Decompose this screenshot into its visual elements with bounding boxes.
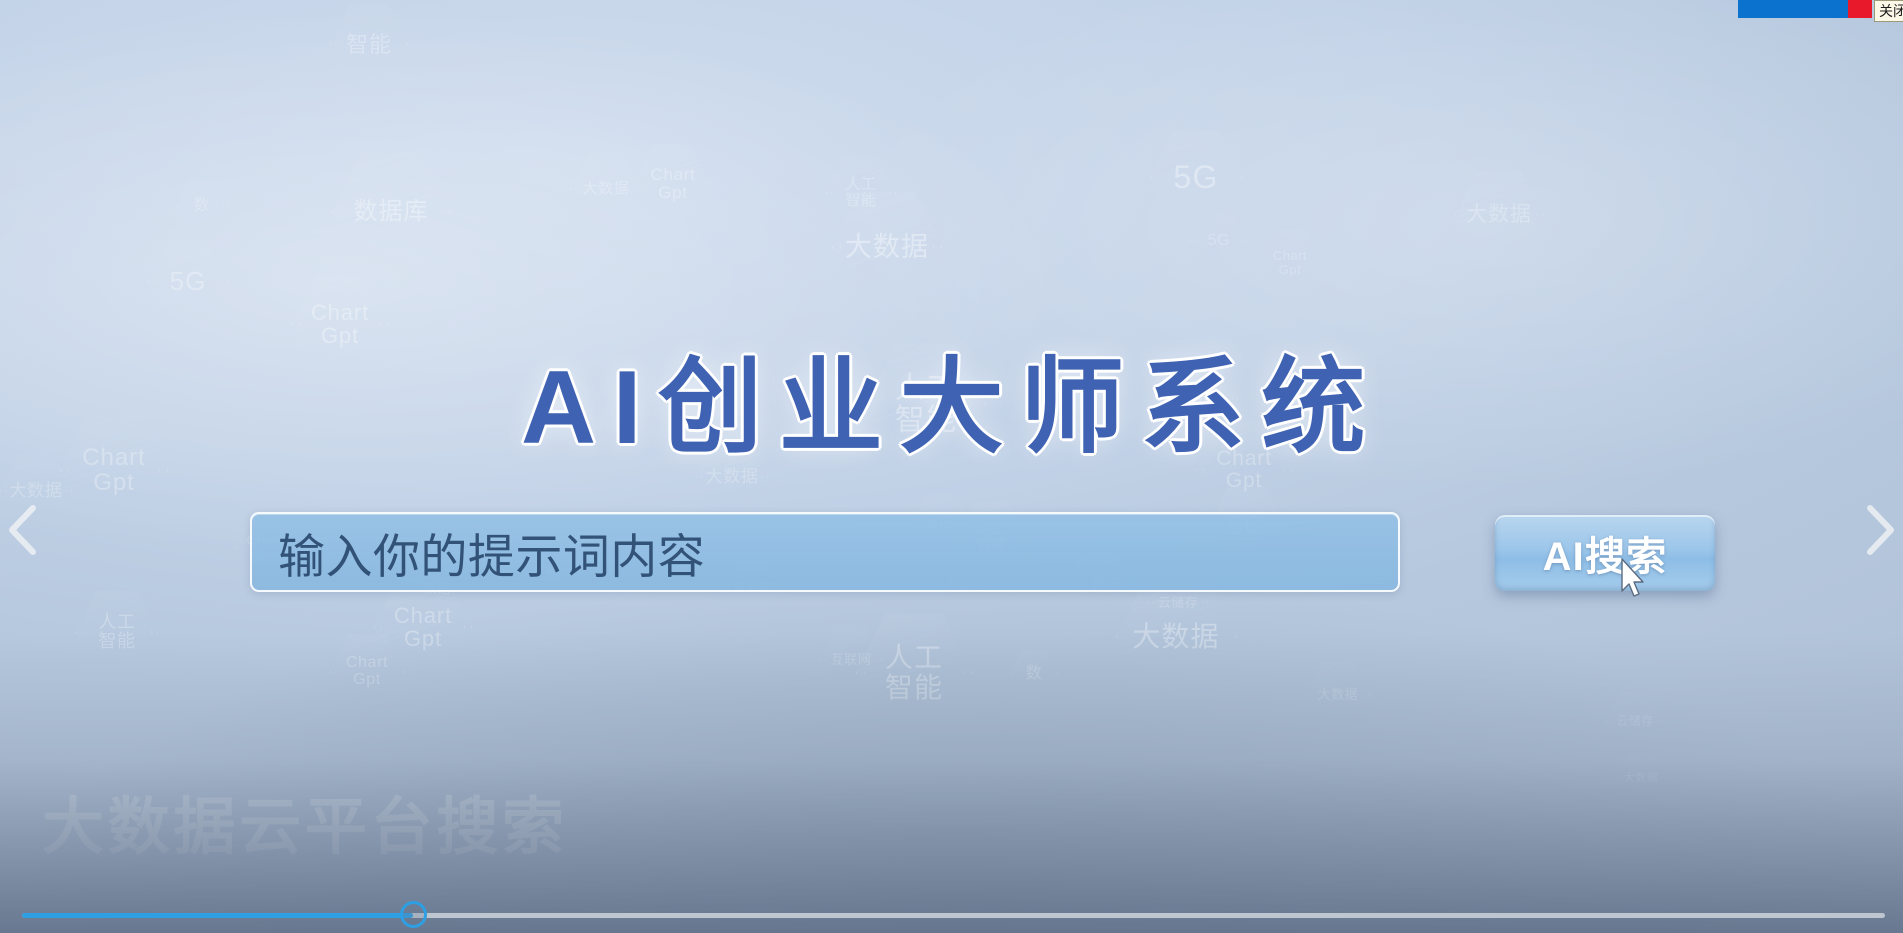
background-hexagon: ChartGpt: [1258, 228, 1322, 297]
background-hexagon: 数: [176, 178, 228, 234]
hexagon-label: 大数据: [838, 233, 935, 261]
hexagon-label: ChartGpt: [646, 166, 700, 202]
hexagon-label: 5G: [1204, 233, 1234, 250]
background-hexagon: 5G: [1190, 210, 1248, 273]
page-title: AI创业大师系统: [0, 322, 1903, 473]
background-hexagon: 5G: [148, 238, 228, 324]
carousel-prev-arrow-icon[interactable]: [2, 500, 48, 560]
hexagon-label: 数: [191, 198, 214, 215]
background-hexagon: 智能: [330, 2, 408, 86]
hexagon-label: 数据库: [346, 199, 435, 224]
hexagon-label: 大数据: [578, 181, 633, 197]
hexagon-label: 大数据: [1461, 204, 1537, 226]
hexagon-label: 5G: [165, 268, 211, 295]
prompt-input-placeholder: 输入你的提示词内容: [278, 518, 705, 587]
top-red-square[interactable]: [1848, 0, 1872, 18]
background-hexagon: 大数据: [570, 150, 642, 228]
background-hexagon: 大数据: [1455, 168, 1543, 263]
hexagon-label: 智能: [341, 33, 396, 56]
close-tooltip[interactable]: 关闭: [1874, 0, 1903, 22]
ai-search-button[interactable]: AI搜索: [1495, 515, 1715, 591]
background-hexagon: ChartGpt: [634, 142, 712, 226]
hexagon-label: 5G: [1168, 161, 1224, 195]
slide-stage: 智能数据库大数据ChartGpt人工智能大数据5G5GChartGpt大数据数5…: [0, 0, 1903, 933]
carousel-next-arrow-icon[interactable]: [1855, 500, 1901, 560]
prompt-input[interactable]: 输入你的提示词内容: [250, 512, 1400, 592]
bottom-progress-slider[interactable]: [0, 867, 1903, 933]
background-hexagon: 大数据: [832, 188, 942, 307]
hexagon-label: ChartGpt: [1269, 249, 1311, 276]
background-hexagon: 数据库: [332, 148, 450, 275]
top-blue-bar: [1738, 0, 1848, 18]
hexagon-label: 大数据: [5, 482, 67, 500]
search-row: 输入你的提示词内容 AI搜索: [0, 512, 1903, 594]
slider-handle[interactable]: [400, 901, 427, 928]
slider-fill: [22, 913, 413, 918]
